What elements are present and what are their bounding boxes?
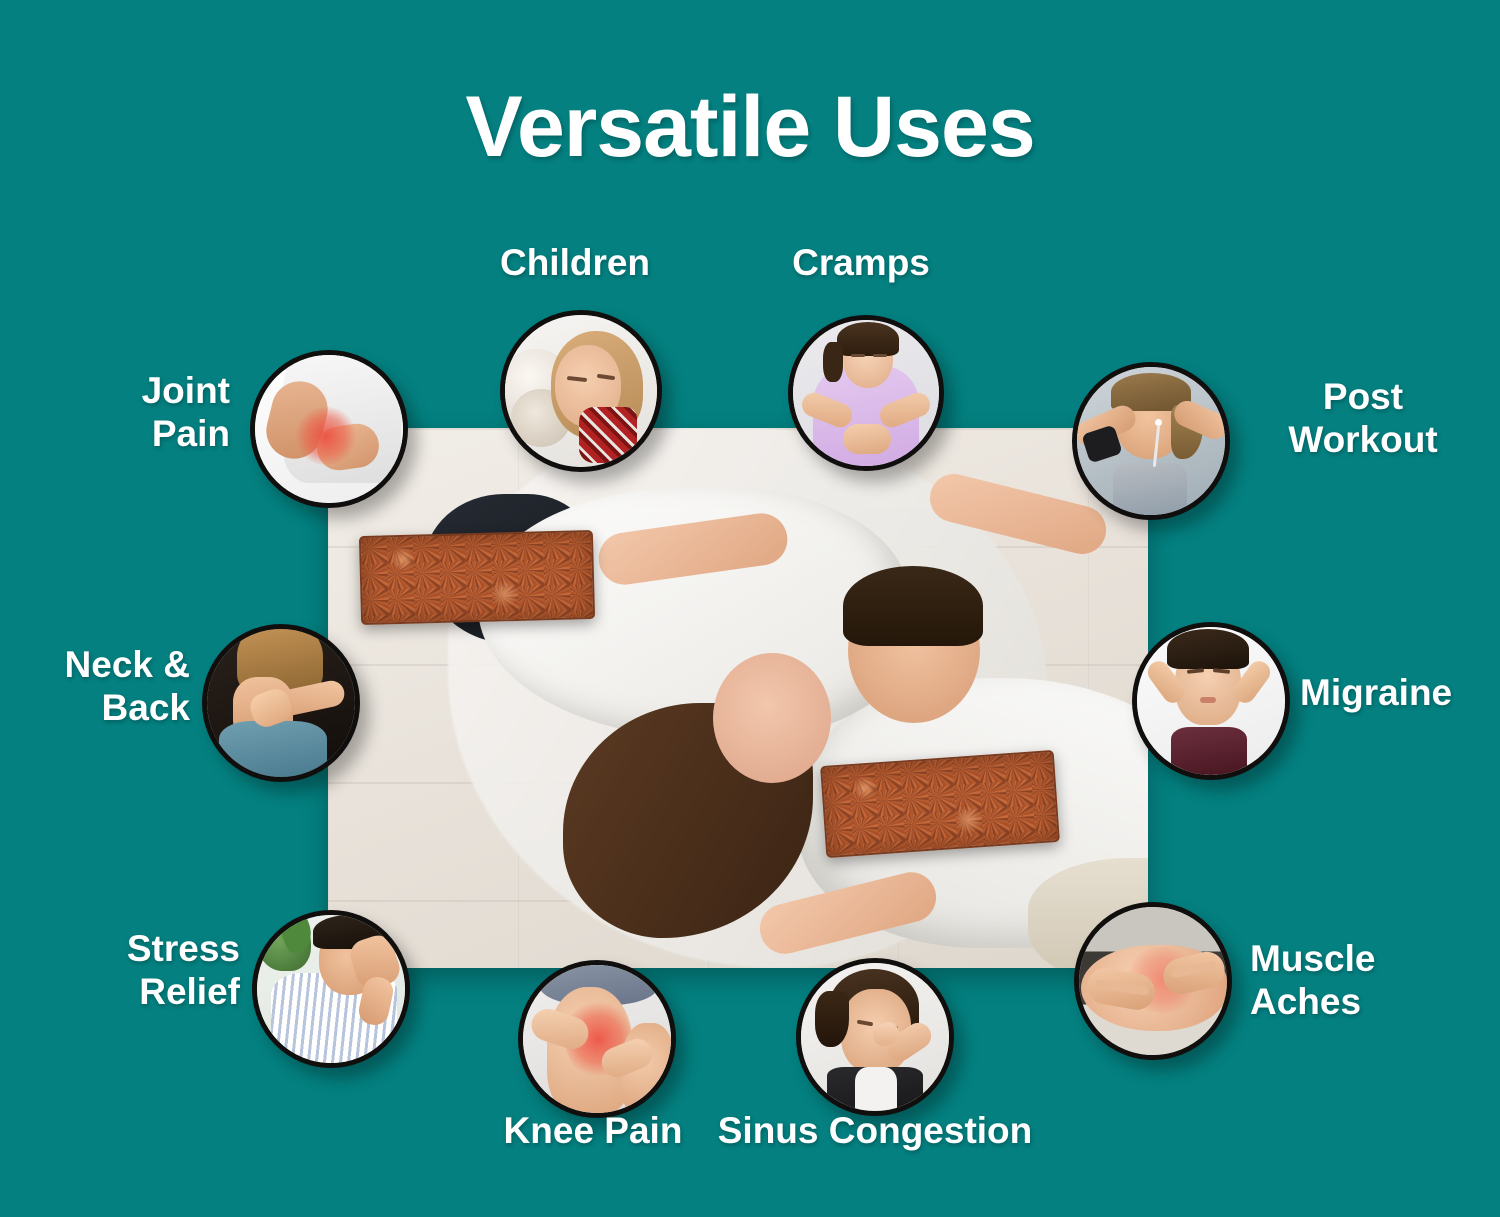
use-bubble-sinus-congestion[interactable]: [796, 958, 954, 1116]
woman-pressing-temples-migraine-icon: [1137, 627, 1285, 775]
use-label-stress-relief: Stress Relief: [60, 928, 240, 1014]
use-bubble-cramps[interactable]: [788, 315, 944, 471]
use-bubble-joint-pain[interactable]: [250, 350, 408, 508]
use-label-post-workout: Post Workout: [1238, 376, 1488, 462]
use-bubble-neck-and-back[interactable]: [202, 624, 360, 782]
hands-massaging-sore-leg-icon: [1079, 907, 1227, 1055]
use-bubble-stress-relief[interactable]: [252, 910, 410, 1068]
use-label-joint-pain: Joint Pain: [30, 370, 230, 456]
use-label-muscle-aches: Muscle Aches: [1250, 938, 1480, 1024]
athletic-woman-stretching-icon: [1077, 367, 1225, 515]
hands-holding-painful-knee-icon: [523, 965, 671, 1113]
heating-pad-top: [359, 530, 595, 625]
heating-pad-bottom: [820, 750, 1060, 858]
use-label-children: Children: [450, 242, 700, 285]
man-rubbing-head-stressed-icon: [257, 915, 405, 1063]
woman-pinching-nose-sinus-icon: [801, 963, 949, 1111]
use-bubble-children[interactable]: [500, 310, 662, 472]
page-title: Versatile Uses: [0, 78, 1500, 177]
use-label-knee-pain: Knee Pain: [468, 1110, 718, 1153]
use-bubble-migraine[interactable]: [1132, 622, 1290, 780]
man-hair: [843, 566, 983, 646]
use-label-sinus-congestion: Sinus Congestion: [700, 1110, 1050, 1153]
use-bubble-knee-pain[interactable]: [518, 960, 676, 1118]
use-label-migraine: Migraine: [1300, 672, 1500, 715]
use-label-neck-and-back: Neck & Back: [10, 644, 190, 730]
use-label-cramps: Cramps: [736, 242, 986, 285]
girl-resting-with-plush-toy-icon: [505, 315, 657, 467]
woman-holding-abdomen-cramps-icon: [793, 320, 939, 466]
woman-holding-sore-neck-icon: [207, 629, 355, 777]
use-bubble-muscle-aches[interactable]: [1074, 902, 1232, 1060]
man-holding-painful-elbow-icon: [255, 355, 403, 503]
versatile-uses-infographic: Versatile Uses Joint Pain: [0, 0, 1500, 1217]
use-bubble-post-workout[interactable]: [1072, 362, 1230, 520]
hero-product-photo: [328, 428, 1148, 968]
woman-head: [713, 653, 831, 783]
